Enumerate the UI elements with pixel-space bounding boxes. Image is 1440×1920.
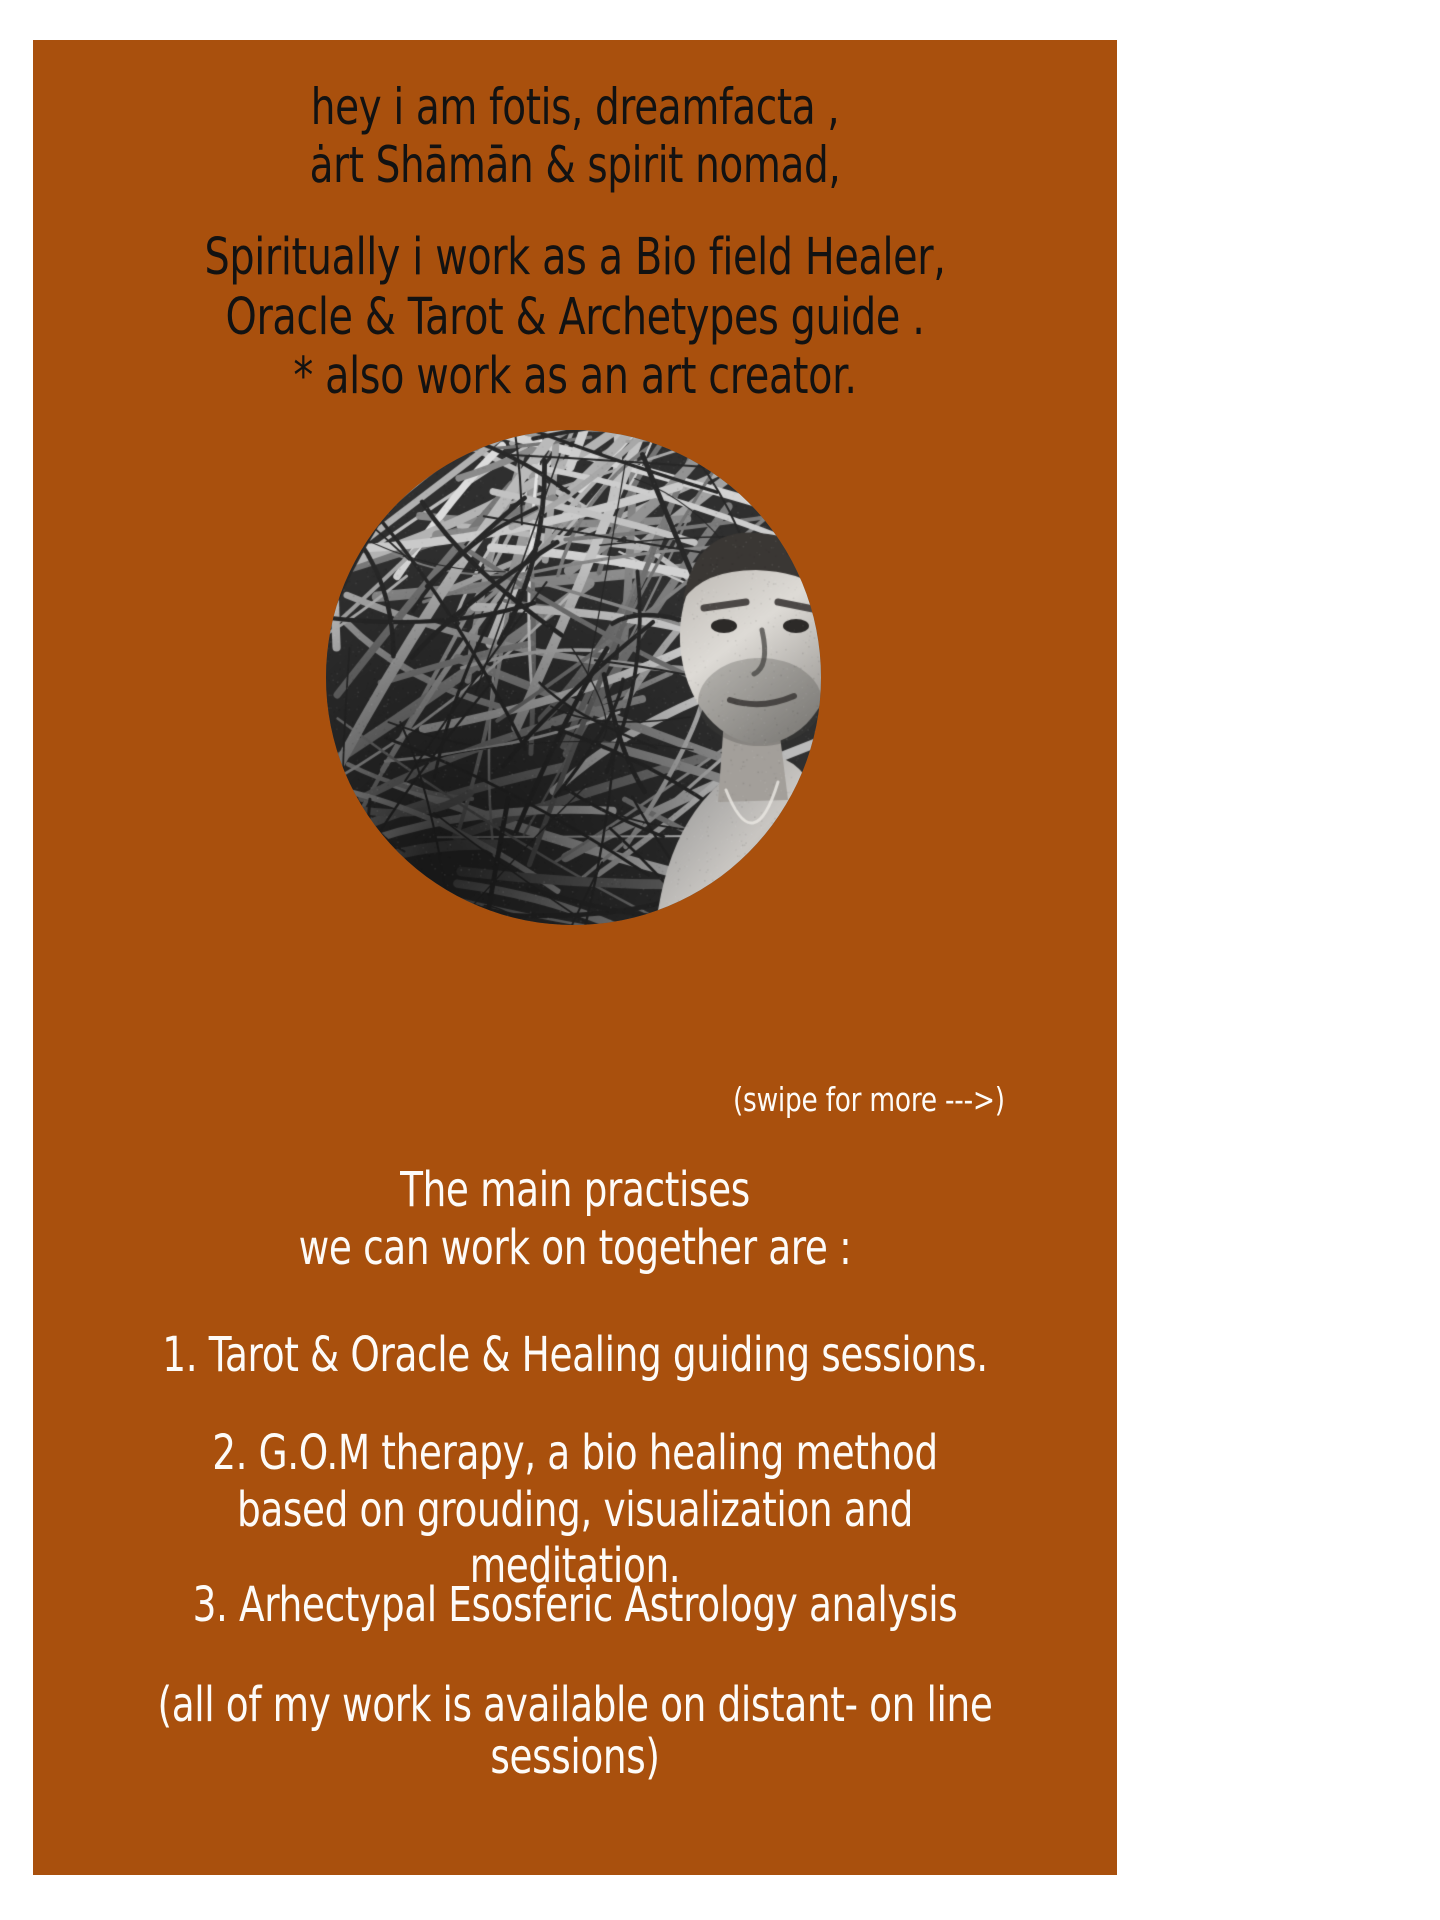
swipe-for-more-caption: (swipe for more --->) — [733, 1080, 1037, 1119]
poster-root: hey i am fotis, dreamfacta , ȧrt Shāmān … — [0, 0, 1440, 1920]
portrait-image — [326, 430, 821, 925]
poster-card: hey i am fotis, dreamfacta , ȧrt Shāmān … — [33, 40, 1117, 1875]
practise-item-1: 1. Tarot & Oracle & Healing guiding sess… — [152, 1330, 998, 1382]
practises-heading: The main practises we can work on togeth… — [152, 1162, 998, 1277]
intro-greeting: hey i am fotis, dreamfacta , ȧrt Shāmān … — [152, 78, 998, 194]
practise-item-2: 2. G.O.M therapy, a bio healing method b… — [152, 1425, 998, 1595]
intro-role-description: Spiritually i work as a Bio field Healer… — [152, 228, 998, 407]
availability-footnote: (all of my work is available on distant-… — [152, 1680, 998, 1784]
portrait-avatar — [326, 430, 821, 925]
practise-item-3: 3. Arhectypal Esosferic Astrology analys… — [152, 1580, 998, 1632]
